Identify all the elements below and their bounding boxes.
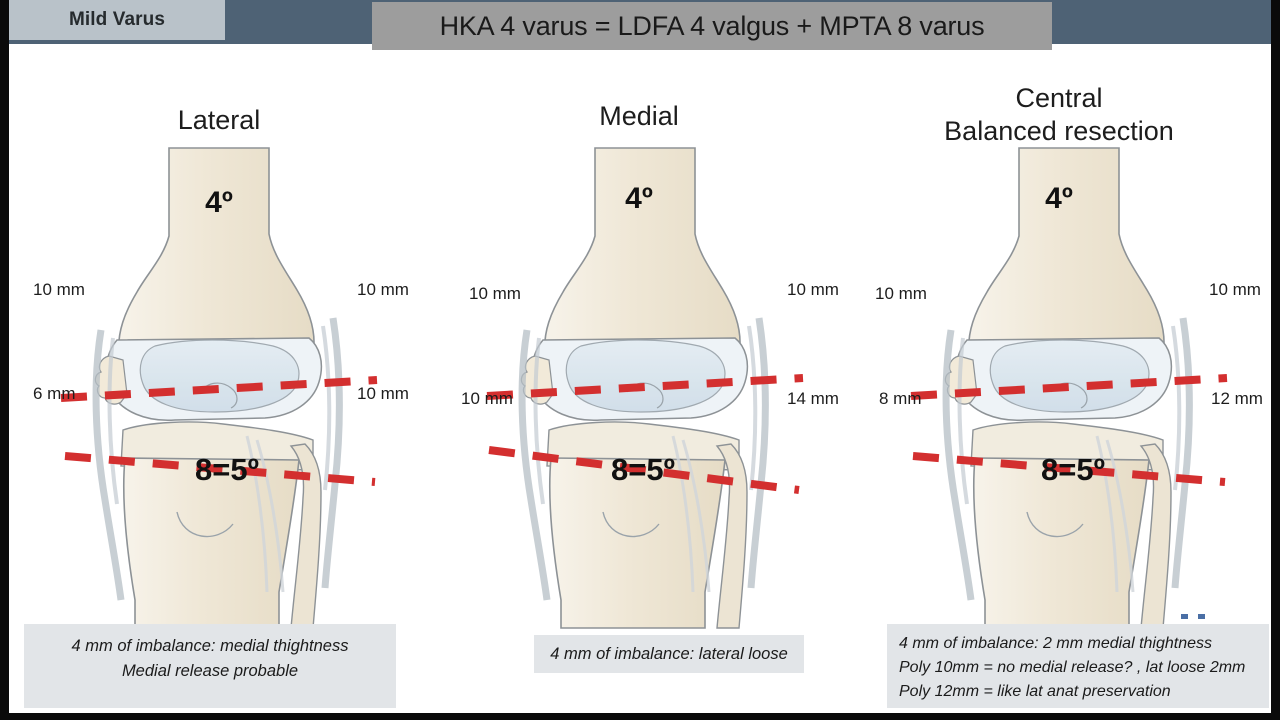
slide-canvas: Lateral — [9, 44, 1271, 713]
femur-right-measurement-medial: 10 mm — [787, 280, 839, 300]
frame-edge-bottom — [0, 713, 1280, 720]
caption-medial: 4 mm of imbalance: lateral loose — [534, 635, 804, 673]
tibia-angle-lateral: 8=5º — [17, 452, 437, 488]
tab-mild-varus-label: Mild Varus — [69, 9, 165, 31]
selection-handle-left[interactable] — [1180, 613, 1189, 620]
slide-root: Mild Varus HKA 4 varus = LDFA 4 valgus +… — [0, 0, 1280, 720]
caption-central-line-1: 4 mm of imbalance: 2 mm medial thightnes… — [899, 632, 1257, 656]
tibia-angle-medial: 8=5º — [433, 452, 853, 488]
femur-left-measurement-lateral: 10 mm — [33, 280, 85, 300]
caption-lateral: 4 mm of imbalance: medial thightness Med… — [24, 624, 396, 708]
panel-central-heading-line1: Central — [849, 82, 1269, 115]
selection-handle-right[interactable] — [1197, 613, 1206, 620]
tibia-left-measurement-central: 8 mm — [879, 389, 922, 409]
tibia-angle-central: 8=5º — [863, 452, 1280, 488]
selection-handles[interactable] — [1180, 613, 1206, 620]
tab-mild-varus[interactable]: Mild Varus — [9, 0, 225, 40]
tibia-right-measurement-central: 12 mm — [1211, 389, 1263, 409]
panel-medial-heading-line1: Medial — [429, 100, 849, 133]
tibia-right-measurement-lateral: 10 mm — [357, 384, 409, 404]
slide-title-plate: HKA 4 varus = LDFA 4 valgus + MPTA 8 var… — [372, 2, 1052, 50]
caption-central: 4 mm of imbalance: 2 mm medial thightnes… — [887, 624, 1269, 708]
caption-medial-line-1: 4 mm of imbalance: lateral loose — [544, 642, 794, 667]
femur-angle-medial: 4º — [429, 182, 849, 216]
frame-edge-left — [0, 0, 9, 720]
frame-edge-right — [1271, 0, 1280, 720]
femur-left-measurement-medial: 10 mm — [469, 284, 521, 304]
slide-title: HKA 4 varus = LDFA 4 valgus + MPTA 8 var… — [440, 11, 985, 42]
femur-angle-lateral: 4º — [9, 186, 429, 220]
femur-right-measurement-lateral: 10 mm — [357, 280, 409, 300]
caption-lateral-line-2: Medial release probable — [38, 659, 382, 684]
tibia-right-measurement-medial: 14 mm — [787, 389, 839, 409]
panel-medial: Medial — [429, 44, 849, 713]
femur-left-measurement-central: 10 mm — [875, 284, 927, 304]
panel-lateral-heading-line1: Lateral — [9, 104, 429, 137]
panel-central: Central Balanced resection — [849, 44, 1269, 713]
femur-angle-central: 4º — [849, 182, 1269, 216]
panel-medial-heading: Medial — [429, 100, 849, 133]
caption-central-line-2: Poly 10mm = no medial release? , lat loo… — [899, 656, 1257, 680]
tibia-left-measurement-lateral: 6 mm — [33, 384, 76, 404]
tibia-left-measurement-medial: 10 mm — [461, 389, 513, 409]
femur-right-measurement-central: 10 mm — [1209, 280, 1261, 300]
caption-lateral-line-1: 4 mm of imbalance: medial thightness — [38, 634, 382, 659]
panel-central-heading: Central Balanced resection — [849, 82, 1269, 148]
caption-central-line-3: Poly 12mm = like lat anat preservation — [899, 680, 1257, 704]
panel-lateral: Lateral — [9, 44, 429, 713]
panel-lateral-heading: Lateral — [9, 104, 429, 137]
